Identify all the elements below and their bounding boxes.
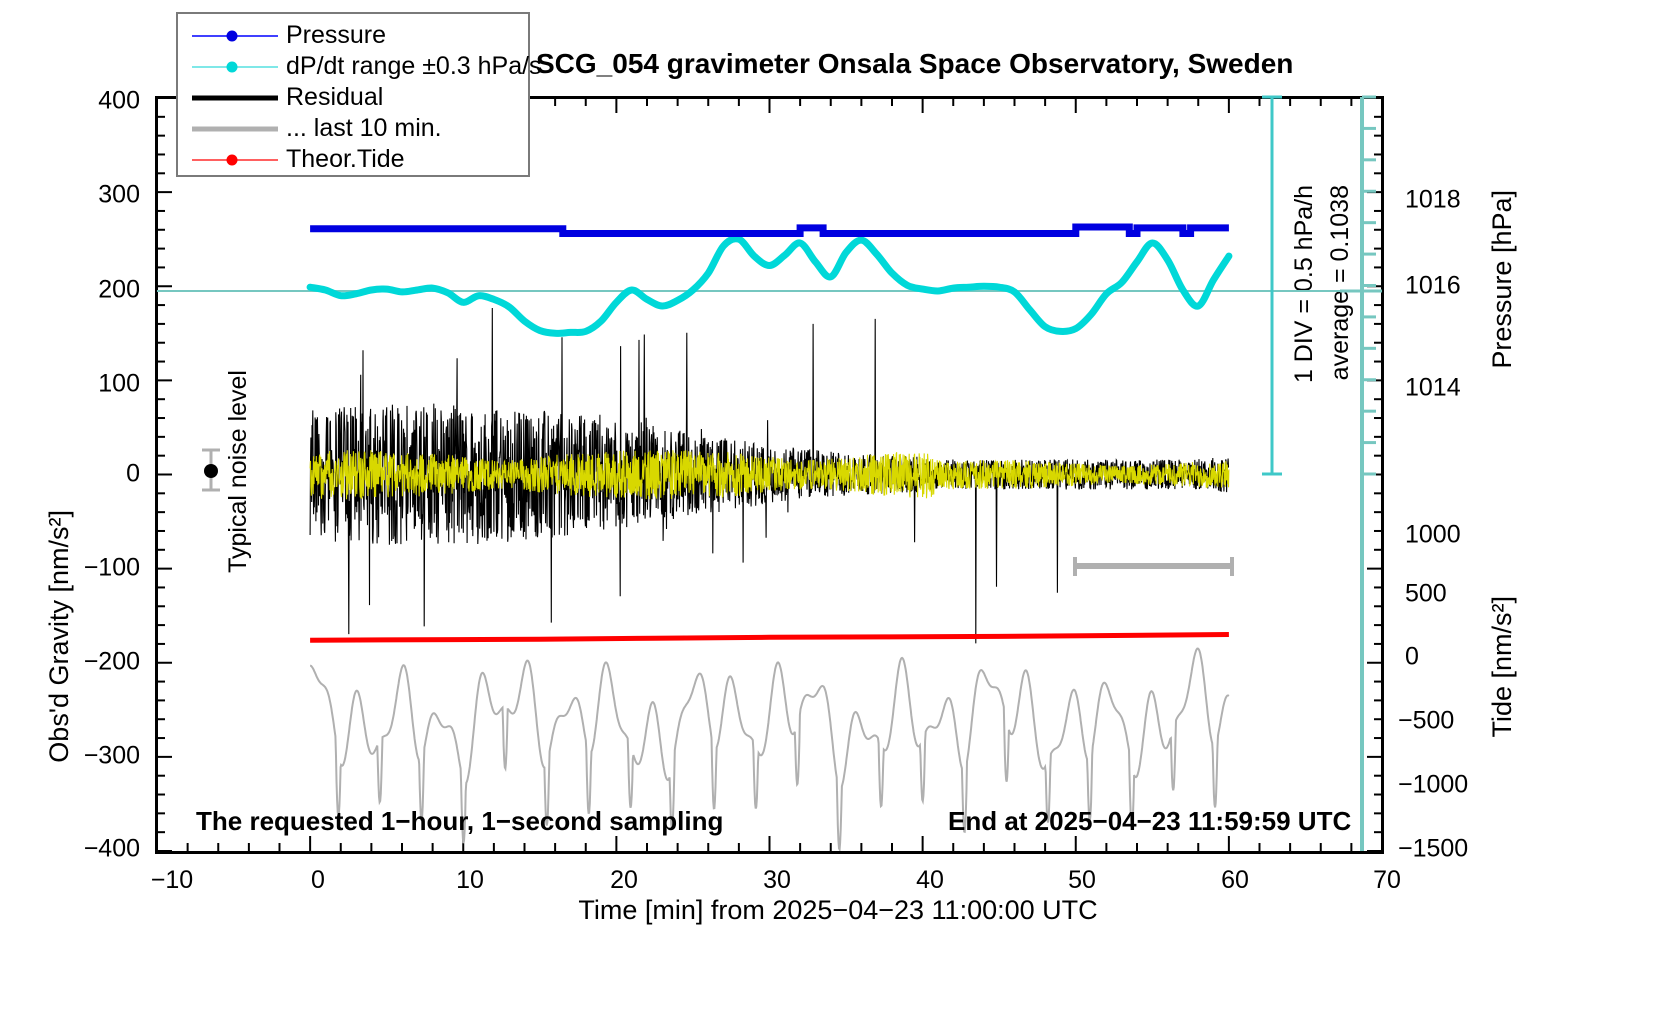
end-time-note: End at 2025−04−23 11:59:59 UTC: [948, 806, 1351, 837]
legend-label: Residual: [286, 83, 383, 112]
legend-item-pressure: Pressure: [178, 20, 528, 51]
legend-label: ... last 10 min.: [286, 114, 442, 143]
legend-label: dP/dt range ±0.3 hPa/s: [286, 52, 542, 81]
legend-line-icon: [178, 51, 286, 82]
left-axis-ticks: [157, 98, 172, 851]
sampling-note: The requested 1−hour, 1−second sampling: [196, 806, 723, 837]
legend-line-icon: [178, 82, 286, 113]
legend-line-icon: [178, 113, 286, 144]
series-theor-tide: [310, 635, 1229, 641]
page-title: SCG_054 gravimeter Onsala Space Observat…: [536, 48, 1293, 80]
last-10-min-span-bar: [1075, 557, 1232, 576]
gravimeter-plot-page: SCG_054 gravimeter Onsala Space Observat…: [0, 0, 1676, 1020]
legend-item-residual: Residual: [178, 82, 528, 113]
legend-item-theortide: Theor.Tide: [178, 144, 528, 175]
dpdt-scale-axis: [1262, 97, 1282, 474]
legend-line-icon: [178, 20, 286, 51]
typical-noise-level-marker: [202, 450, 220, 490]
bottom-axis-ticks: [157, 836, 1382, 851]
legend-line-icon: [178, 144, 286, 175]
legend-item-dpdt: dP/dt range ±0.3 hPa/s: [178, 51, 528, 82]
legend-label: Theor.Tide: [286, 145, 405, 174]
legend-label: Pressure: [286, 21, 386, 50]
legend: Pressure dP/dt range ±0.3 hPa/s Residual…: [176, 12, 530, 177]
series-dpdt: [310, 239, 1229, 334]
legend-item-last10: ... last 10 min.: [178, 113, 528, 144]
series-pressure: [310, 227, 1229, 234]
